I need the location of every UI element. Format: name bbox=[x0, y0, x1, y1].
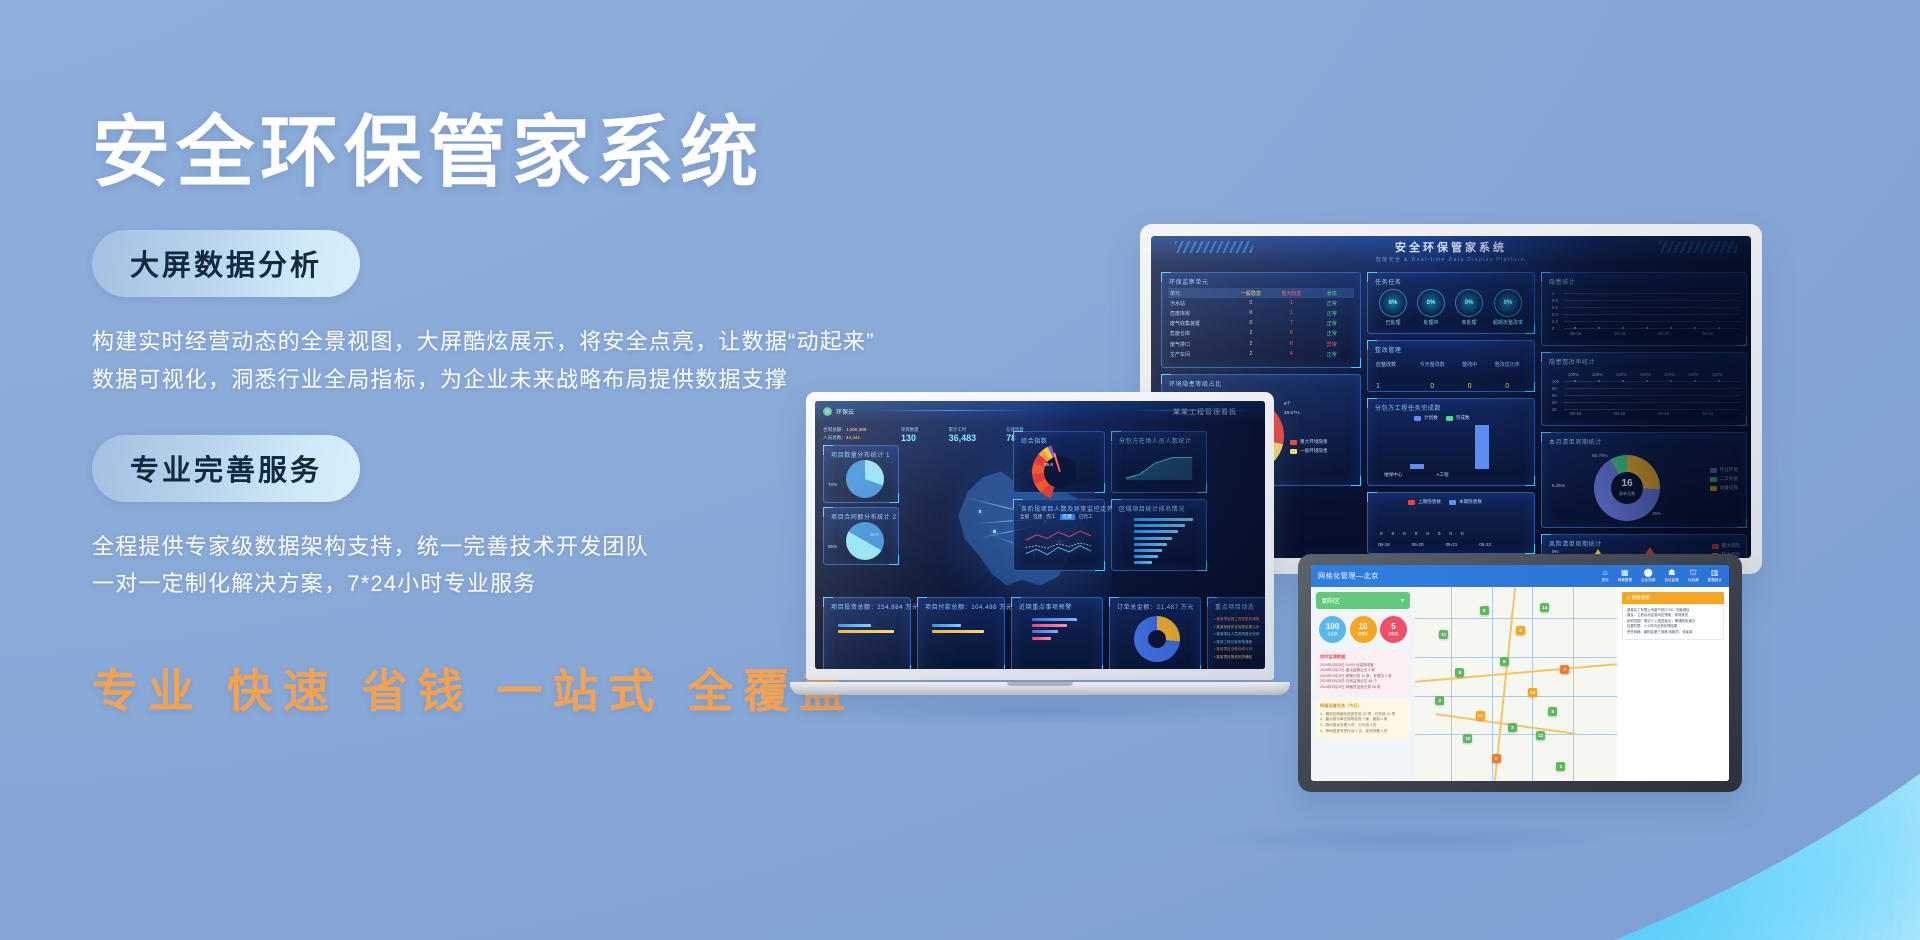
table-header-row: 单元 一般隐患 重大隐患 状态 bbox=[1168, 288, 1354, 298]
bar-value: 0 bbox=[1426, 531, 1429, 536]
laptop-deck bbox=[790, 682, 1290, 695]
legend-item: 重大风险 bbox=[1712, 543, 1740, 549]
trend-tab[interactable]: 已完工 bbox=[1079, 514, 1093, 520]
legend-label-major: 重大环境隐患 bbox=[1300, 439, 1328, 445]
cell-general: 2 bbox=[1231, 330, 1271, 337]
cell-general: 0 bbox=[1231, 300, 1271, 307]
legend-label: 二次系统 bbox=[1720, 476, 1738, 482]
kpi-label: 已处理 bbox=[1379, 319, 1407, 326]
rectify-val-3: 0 bbox=[1489, 383, 1527, 390]
map-marker[interactable]: 12 bbox=[1528, 688, 1537, 697]
legend-label: 上期隐患数 bbox=[1418, 499, 1441, 505]
unit-table: 单元 一般隐患 重大隐患 状态 污水站01正常 危废库房01正常 废气收集装置0… bbox=[1168, 288, 1354, 359]
order-pct-top: 68.75% bbox=[1592, 453, 1608, 461]
laptop-header-line-left bbox=[877, 410, 1027, 411]
cell-status: 正常 bbox=[1312, 300, 1352, 307]
cell-status: 正常 bbox=[1312, 320, 1352, 327]
panel-title-order-donut: 本月清单周期统计 bbox=[1549, 437, 1602, 446]
grid-icon: ▦ bbox=[1618, 569, 1632, 577]
laptop-trackpad-notch bbox=[1007, 682, 1073, 686]
pie-1-pct2: 70% bbox=[828, 482, 837, 490]
kpi-label: 未处理 bbox=[1455, 319, 1483, 326]
kpi-ring: 0% bbox=[1494, 289, 1522, 317]
panel-gauge: 综合指数 85.6 bbox=[1013, 431, 1105, 493]
ytick: 0.8 bbox=[1552, 298, 1558, 303]
panel-bottom-5: 重点项目动态 • 某某项目施工进度更新通报 • 某某标段安全检查结果公示 • 某… bbox=[1207, 597, 1265, 669]
cell-status: 正常 bbox=[1312, 330, 1352, 337]
region-select[interactable]: 朝阳区 ▾ bbox=[1316, 592, 1410, 609]
hazard-donut-legend: 重大环境隐患 一般环境隐患 bbox=[1290, 439, 1328, 457]
tablet-card-monitor: 实时监测数据 2024年5月23日 14:00 污染物浓度 2024年5月23日… bbox=[1316, 650, 1410, 694]
cell-major: 6 bbox=[1271, 330, 1311, 337]
page-title: 安全环保管家系统 bbox=[92, 112, 1032, 194]
banner-stage: 安全环保管家系统 大屏数据分析 构建实时经营动态的全景视图，大屏酷炫展示，将安全… bbox=[0, 0, 1920, 940]
tablet-nav[interactable]: ⌂首页 ▦网格管理 ⬤企业档案 ☗执法监管 ⛫污染源 ▥数据统计 bbox=[1602, 569, 1722, 583]
pie-1-pct: 20% bbox=[868, 462, 877, 470]
trend-tab-active[interactable]: 在建 bbox=[1060, 514, 1075, 520]
tablet-brand: 网格化管理—北京 bbox=[1318, 571, 1379, 581]
col-general: 一般隐患 bbox=[1231, 290, 1271, 297]
kpi-ring: 6% bbox=[1379, 289, 1407, 317]
rectify-val-0: 1 bbox=[1376, 383, 1414, 390]
panel-person-trend: 分包方在场人员人数统计 bbox=[1111, 431, 1207, 493]
panel-title-rank: 区域项目统计排名情况 bbox=[1119, 504, 1185, 513]
legend-label: 本期隐患数 bbox=[1459, 499, 1482, 505]
paragraph-data-analysis: 构建实时经营动态的全景视图，大屏酷炫展示，将安全点亮，让数据“动起来” 数据可视… bbox=[92, 323, 1032, 399]
point-label: 100% bbox=[1616, 372, 1627, 377]
ytick: 0 bbox=[1552, 326, 1554, 331]
bar-value: 0 bbox=[1392, 531, 1395, 536]
panel-bottom-4: 订单总金额：21,487 万元 bbox=[1109, 597, 1201, 669]
bottom-donut bbox=[1134, 616, 1180, 662]
legend-label: 重大风险 bbox=[1722, 543, 1740, 549]
ytick: 80 bbox=[1552, 386, 1557, 391]
xtick: 05-16 bbox=[1570, 411, 1581, 416]
cell-major: 1 bbox=[1271, 310, 1311, 317]
paragraph-1-line-1: 构建实时经营动态的全景视图，大屏酷炫展示，将安全点亮，让数据“动起来” bbox=[92, 323, 1032, 361]
ytick: 40 bbox=[1552, 400, 1557, 405]
tablet: 网格化管理—北京 ⌂首页 ▦网格管理 ⬤企业档案 ☗执法监管 ⛫污染源 ▥数据统… bbox=[1298, 554, 1742, 792]
donut-center: 16 清单总数 bbox=[1611, 472, 1643, 504]
bar-plan-2 bbox=[1475, 425, 1489, 469]
dashboard-title: 安全环保管家系统 bbox=[1395, 239, 1507, 255]
month-bar-legend: 上期隐患数 本期隐患数 bbox=[1408, 499, 1482, 508]
map-marker[interactable]: 8 bbox=[1492, 754, 1501, 763]
panel-unit-table: 环保监察单元 单元 一般隐患 重大隐患 状态 污水站01正常 危废库房01正常 bbox=[1161, 272, 1361, 368]
kpi-ring: 0% bbox=[1417, 289, 1445, 317]
cell-status: 异常 bbox=[1312, 341, 1352, 348]
device-group: 安全环保管家系统 智能安全 & Real-time Data Display P… bbox=[900, 150, 1920, 940]
rank-bars bbox=[1134, 518, 1200, 568]
tablet-warning-body: 某某化工有限公司废气排口 SO₂ 浓度超标 建议：立即启动应急响应预案，现场核查… bbox=[1622, 604, 1724, 640]
legend-swatch-major bbox=[1290, 440, 1297, 445]
table-row: 危废库房01正常 bbox=[1168, 308, 1354, 318]
cell-name: 危废仓库 bbox=[1170, 330, 1231, 337]
rectify-rate-axis: 100 80 60 40 20 100% 100% bbox=[1552, 371, 1740, 415]
bar-value: 0 bbox=[1403, 531, 1406, 536]
header-decor-right bbox=[1659, 241, 1737, 253]
legend-item: 作业环境 bbox=[1710, 467, 1738, 473]
xtick: 05-22 bbox=[1479, 542, 1491, 547]
month-bar-values: 0 0 0 0 0 0 0 0 bbox=[1380, 531, 1464, 539]
map-marker[interactable]: 5 bbox=[1548, 707, 1557, 716]
tablet-sidebar: 朝阳区 ▾ 100企业数 10预警数 5超标数 实时监测数据 2024年5月23… bbox=[1311, 587, 1415, 781]
monitor-shadow bbox=[1200, 822, 1620, 856]
xtick: 05-22 bbox=[1702, 411, 1713, 416]
tablet-frame: 网格化管理—北京 ⌂首页 ▦网格管理 ⬤企业档案 ☗执法监管 ⛫污染源 ▥数据统… bbox=[1298, 554, 1742, 792]
map-marker[interactable]: 10 bbox=[1463, 734, 1472, 743]
kpi-label: 超期未整改率 bbox=[1493, 319, 1523, 326]
laptop-dashboard: 环保云 某某工程管理看板 项目数量130 累计工时36,483 在建项目78 bbox=[815, 401, 1265, 669]
left-value-row: 合同总额：1,360,389 bbox=[823, 427, 899, 433]
laptop-shadow bbox=[820, 698, 1260, 724]
ytick: 1 bbox=[1552, 291, 1554, 296]
order-donut-legend: 作业环境 二次系统 设备设施 bbox=[1710, 467, 1738, 494]
cell-major: 4 bbox=[1271, 351, 1311, 358]
pie-chart-1 bbox=[846, 460, 884, 498]
header-decor-left bbox=[1175, 241, 1253, 253]
xtick: 05-20 bbox=[1658, 411, 1669, 416]
tablet-map[interactable]: 11 6 14 4 8 9 7 3 12 11 5 2 10 bbox=[1415, 587, 1617, 781]
ytick: 100 bbox=[1552, 379, 1559, 384]
bottom-5-list: • 某某项目施工进度更新通报 • 某某标段安全检查结果公示 • 某某项目人员进场… bbox=[1214, 616, 1265, 661]
rectify-val-1: 0 bbox=[1414, 383, 1452, 390]
nav-item-person[interactable]: ☗执法监管 bbox=[1664, 569, 1678, 583]
point-label: 100% bbox=[1592, 372, 1603, 377]
dashboard-subtitle: 智能安全 & Real-time Data Display Platform bbox=[1376, 256, 1526, 263]
donut-center bbox=[1148, 630, 1166, 648]
panel-bottom-1: 项目投资总额：254,884 万元 bbox=[823, 597, 911, 669]
rectify-col-1: 今天整改数 bbox=[1414, 361, 1452, 368]
person-area-chart bbox=[1122, 450, 1200, 482]
cell-general: 0 bbox=[1231, 320, 1271, 327]
gauge-chart bbox=[1032, 444, 1088, 500]
panel-title-bottom-4: 订单总金额：21,487 万元 bbox=[1117, 602, 1194, 611]
order-pct-left: 6.25% bbox=[1552, 483, 1565, 491]
cell-major: 6 bbox=[1271, 341, 1311, 348]
panel-bottom-2: 项目付款总额：104,488 万元 bbox=[917, 597, 1005, 669]
map-marker[interactable]: 8 bbox=[1455, 668, 1464, 677]
map-marker[interactable]: 11 bbox=[1476, 711, 1485, 720]
panel-title-trend: 各阶段项目人数及异常监控走势 bbox=[1021, 504, 1113, 513]
cell-name: 生产车间 bbox=[1170, 351, 1231, 358]
nav-item-alert[interactable]: ⬤企业档案 bbox=[1641, 569, 1655, 583]
xlabel: 维保中心 bbox=[1384, 472, 1402, 478]
panel-title-unit-table: 环保监察单元 bbox=[1169, 277, 1209, 286]
panel-pie-1: 项目数量分布统计 1 20% 70% bbox=[823, 445, 899, 503]
xtick: 05-21 bbox=[1446, 542, 1458, 547]
laptop: 环保云 某某工程管理看板 项目数量130 累计工时36,483 在建项目78 bbox=[790, 392, 1290, 695]
panel-title-task-status: 任务任务 bbox=[1375, 277, 1401, 286]
cell-status: 正常 bbox=[1312, 310, 1352, 317]
nav-item-chart[interactable]: ▥数据统计 bbox=[1708, 569, 1722, 583]
month-bar-xaxis: 05-18 05-20 05-21 05-22 bbox=[1378, 542, 1491, 550]
col-status: 状态 bbox=[1312, 290, 1352, 297]
task-kpi-row: 6%已处理 0%处理中 0%未处理 0%超期未整改率 bbox=[1374, 289, 1528, 326]
donut-value: 16 bbox=[1621, 479, 1632, 489]
legend-item: 一般环境隐患 bbox=[1290, 448, 1328, 454]
ytick: 0.4 bbox=[1552, 312, 1558, 317]
factory-icon: ⛫ bbox=[1688, 569, 1699, 577]
tablet-right-panel: ⚠ 预警提醒 某某化工有限公司废气排口 SO₂ 浓度超标 建议：立即启动应急响应… bbox=[1617, 587, 1729, 781]
map-marker[interactable]: 13 bbox=[1536, 731, 1545, 740]
bar-value: 0 bbox=[1380, 531, 1383, 536]
cell-major: 1 bbox=[1271, 300, 1311, 307]
laptop-header-line-right bbox=[1129, 410, 1249, 411]
laptop-kpi: 项目数量130 bbox=[901, 427, 919, 443]
gauge-value: 85.6 bbox=[1044, 462, 1053, 470]
trend-tab[interactable]: 全部 bbox=[1020, 514, 1029, 520]
legend-label: 作业环境 bbox=[1720, 467, 1738, 473]
xtick: 05-18 bbox=[1614, 411, 1625, 416]
rectify-header-row: 应整改数 今天整改数 整改中 整改成功率 bbox=[1374, 359, 1528, 369]
legend-item: 二次系统 bbox=[1710, 476, 1738, 482]
xtick: 05-18 bbox=[1378, 542, 1390, 547]
pie-2-pct: 35% bbox=[870, 532, 879, 540]
cell-major: 7 bbox=[1271, 320, 1311, 327]
trend-line-chart bbox=[1022, 524, 1100, 560]
map-marker[interactable]: 3 bbox=[1435, 696, 1444, 705]
panel-order-donut: 本月清单周期统计 16 清单总数 作业环境 二次系统 设备设施 bbox=[1541, 432, 1747, 528]
legend-item: 本期隐患数 bbox=[1449, 499, 1482, 505]
panel-rank: 区域项目统计排名情况 bbox=[1111, 499, 1207, 571]
panel-title-bottom-1: 项目投资总额：254,884 万元 bbox=[831, 602, 919, 611]
xtick: 05-20 bbox=[1658, 331, 1669, 336]
table-row: 污水站01正常 bbox=[1168, 298, 1354, 308]
left-value-row: 人员总数：44,441 bbox=[823, 435, 899, 441]
kpi-item: 6%已处理 bbox=[1379, 289, 1407, 326]
panel-title-rectify-rate: 隐患整改率统计 bbox=[1549, 357, 1595, 366]
cell-status: 正常 bbox=[1312, 351, 1352, 358]
tablet-stats: 100企业数 10预警数 5超标数 bbox=[1319, 616, 1407, 643]
panel-title-hidden-stat: 隐患统计 bbox=[1549, 277, 1575, 286]
laptop-title: 某某工程管理看板 bbox=[1173, 407, 1237, 417]
bar-value: 0 bbox=[1438, 531, 1441, 536]
pie-chart-2 bbox=[846, 522, 884, 560]
tablet-card-tasks: 网格巡查任务（今日） 1、朝阳区网格化巡查任务 22 项，已完成 14 项 2、… bbox=[1316, 699, 1410, 738]
rectify-col-3: 整改成功率 bbox=[1489, 361, 1527, 368]
legend-label-general: 一般环境隐患 bbox=[1300, 448, 1328, 454]
panel-month-bar: 上期隐患数 本期隐患数 0 0 0 0 0 0 0 bbox=[1367, 492, 1535, 554]
panel-title-bottom-3: 近期重点事项预警 bbox=[1019, 602, 1072, 611]
xtick: 05-20 bbox=[1412, 542, 1424, 547]
legend-swatch-general bbox=[1290, 449, 1297, 454]
tablet-screen: 网格化管理—北京 ⌂首页 ▦网格管理 ⬤企业档案 ☗执法监管 ⛫污染源 ▥数据统… bbox=[1311, 565, 1729, 781]
badge-professional-service: 专业完善服务 bbox=[92, 435, 360, 502]
bottom-1-bars bbox=[838, 624, 902, 636]
col-unit: 单元 bbox=[1170, 290, 1231, 297]
laptop-kpi-row: 项目数量130 累计工时36,483 在建项目78 bbox=[901, 427, 1024, 443]
laptop-lid: 环保云 某某工程管理看板 项目数量130 累计工时36,483 在建项目78 bbox=[806, 392, 1274, 680]
table-row: 废气收集装置07正常 bbox=[1168, 319, 1354, 329]
bottom-3-bars bbox=[1032, 618, 1096, 643]
col-major: 重大隐患 bbox=[1271, 290, 1311, 297]
rectify-table: 应整改数 今天整改数 整改中 整改成功率 1 0 0 0 bbox=[1374, 359, 1528, 391]
laptop-screen: 环保云 某某工程管理看板 项目数量130 累计工时36,483 在建项目78 bbox=[815, 401, 1265, 669]
hidden-stat-axis: 1 0.8 0.6 0.4 0.2 0 05-16 bbox=[1552, 291, 1740, 335]
donut-label: 清单总数 bbox=[1619, 491, 1636, 497]
bar-value: 0 bbox=[1415, 531, 1418, 536]
kpi-item: 0%超期未整改率 bbox=[1493, 289, 1523, 326]
table-row: 生产车间24正常 bbox=[1168, 349, 1354, 359]
point-label: 100% bbox=[1712, 372, 1723, 377]
panel-title-bottom-5: 重点项目动态 bbox=[1215, 602, 1255, 611]
trend-tabs[interactable]: 全部 在建 完工 在建 已完工 bbox=[1020, 514, 1093, 523]
cell-general: 2 bbox=[1231, 351, 1271, 358]
laptop-brand-label: 环保云 bbox=[836, 407, 854, 416]
trend-tab[interactable]: 完工 bbox=[1046, 514, 1055, 520]
xtick: 05-16 bbox=[1570, 331, 1581, 336]
kpi-label: 处理中 bbox=[1417, 319, 1445, 326]
map-marker[interactable]: 7 bbox=[1560, 665, 1569, 674]
panel-rectify: 整改管理 应整改数 今天整改数 整改中 整改成功率 1 bbox=[1367, 340, 1535, 392]
stat-circle: 5超标数 bbox=[1380, 616, 1407, 643]
map-marker[interactable]: 6 bbox=[1480, 606, 1489, 615]
kpi-ring: 0% bbox=[1455, 289, 1483, 317]
map-marker[interactable]: 11 bbox=[1439, 630, 1448, 639]
ytick: 0.6 bbox=[1552, 305, 1558, 310]
nav-item-home[interactable]: ⌂首页 bbox=[1602, 569, 1609, 583]
bottom-2-bars bbox=[932, 624, 996, 636]
bar-plan-1 bbox=[1410, 464, 1424, 469]
chevron-down-icon: ▾ bbox=[1401, 597, 1404, 604]
panel-title-bottom-2: 项目付款总额：104,488 万元 bbox=[925, 602, 1013, 611]
stat-circle: 100企业数 bbox=[1319, 616, 1346, 643]
map-marker[interactable]: 1 bbox=[1556, 762, 1565, 771]
bar-value: 0 bbox=[1449, 531, 1452, 536]
map-marker[interactable]: 4 bbox=[1516, 626, 1525, 635]
laptop-brand: 环保云 bbox=[823, 407, 854, 416]
point-label: 100% bbox=[1688, 372, 1699, 377]
panel-hidden-stat: 隐患统计 1 0.8 0.6 0.4 0.2 0 bbox=[1541, 272, 1747, 346]
project-bar-xaxis: 维保中心 A工程 bbox=[1384, 472, 1449, 481]
panel-project-bar: 分包方工程任务完成数 计划数 完成数 维保中心 A工程 bbox=[1367, 398, 1535, 486]
panel-task-status: 任务任务 6%已处理 0%处理中 0%未处理 0%超期未整改率 bbox=[1367, 272, 1535, 334]
person-icon: ☗ bbox=[1664, 569, 1678, 577]
point-label: 100% bbox=[1568, 372, 1579, 377]
cell-name: 废气排口 bbox=[1170, 341, 1231, 348]
cell-general: 0 bbox=[1231, 310, 1271, 317]
leaf-icon bbox=[823, 407, 832, 416]
map-marker[interactable]: 2 bbox=[1508, 723, 1517, 732]
badge-data-analysis: 大屏数据分析 bbox=[92, 230, 360, 297]
kpi-item: 0%处理中 bbox=[1417, 289, 1445, 326]
xtick: 05-18 bbox=[1614, 331, 1625, 336]
panel-title-project-bar: 分包方工程任务完成数 bbox=[1375, 403, 1441, 412]
panel-bottom-3: 近期重点事项预警 bbox=[1011, 597, 1103, 669]
table-row: 危废仓库26正常 bbox=[1168, 329, 1354, 339]
point-label: 100% bbox=[1640, 372, 1651, 377]
cell-general: 2 bbox=[1231, 341, 1271, 348]
cell-name: 污水站 bbox=[1170, 300, 1231, 307]
laptop-kpi: 累计工时36,483 bbox=[949, 427, 977, 443]
alert-icon: ⬤ bbox=[1641, 569, 1655, 577]
bar-value: 0 bbox=[1461, 531, 1464, 536]
home-icon: ⌂ bbox=[1602, 569, 1609, 577]
panel-title-rectify: 整改管理 bbox=[1375, 345, 1401, 354]
legend-item: 重大环境隐患 bbox=[1290, 439, 1328, 445]
rectify-val-2: 0 bbox=[1451, 383, 1489, 390]
order-donut-chart: 16 清单总数 bbox=[1594, 455, 1660, 521]
table-row: 废气排口26异常 bbox=[1168, 339, 1354, 349]
nav-item-factory[interactable]: ⛫污染源 bbox=[1688, 569, 1699, 583]
rectify-value-row: 1 0 0 0 bbox=[1374, 381, 1528, 391]
project-bar-chart bbox=[1384, 421, 1514, 469]
ytick: 0.2 bbox=[1552, 319, 1558, 324]
nav-item-grid[interactable]: ▦网格管理 bbox=[1618, 569, 1632, 583]
map-marker[interactable]: 14 bbox=[1540, 603, 1549, 612]
tablet-warning-header: ⚠ 预警提醒 bbox=[1622, 592, 1724, 604]
chart-icon: ▥ bbox=[1708, 569, 1722, 577]
tablet-body: 朝阳区 ▾ 100企业数 10预警数 5超标数 实时监测数据 2024年5月23… bbox=[1311, 587, 1729, 781]
panel-trend: 各阶段项目人数及异常监控走势 全部 在建 完工 在建 已完工 bbox=[1013, 499, 1105, 571]
trend-tab[interactable]: 在建 bbox=[1033, 514, 1042, 520]
point-label: 100% bbox=[1664, 372, 1675, 377]
panel-title-risk-level: 风险清单周期统计 bbox=[1549, 539, 1602, 548]
cell-name: 危废库房 bbox=[1170, 310, 1231, 317]
panel-title-pie-1: 项目数量分布统计 1 bbox=[831, 450, 890, 459]
pie-2-pct2: 55% bbox=[828, 544, 837, 552]
xtick: 05-22 bbox=[1702, 331, 1713, 336]
kpi-item: 0%未处理 bbox=[1455, 289, 1483, 326]
tablet-topbar: 网格化管理—北京 ⌂首页 ▦网格管理 ⬤企业档案 ☗执法监管 ⛫污染源 ▥数据统… bbox=[1311, 565, 1729, 587]
laptop-left-values: 合同总额：1,360,389 人员总数：44,441 bbox=[823, 427, 899, 441]
panel-title-gauge: 综合指数 bbox=[1021, 436, 1047, 445]
ytick: 20 bbox=[1552, 407, 1557, 412]
panel-rectify-rate: 隐患整改率统计 100 80 60 40 20 bbox=[1541, 352, 1747, 426]
legend-item: 上期隐患数 bbox=[1408, 499, 1441, 505]
panel-pie-2: 项目合同额分布统计 2 35% 55% bbox=[823, 507, 899, 565]
panel-title-pie-2: 项目合同额分布统计 2 bbox=[831, 512, 897, 521]
xlabel: A工程 bbox=[1436, 472, 1448, 478]
order-pct-right: 25% bbox=[1652, 511, 1661, 519]
rectify-col-2: 整改中 bbox=[1451, 361, 1489, 368]
stat-circle: 10预警数 bbox=[1350, 616, 1377, 643]
cell-name: 废气收集装置 bbox=[1170, 320, 1231, 327]
legend-label: 设备设施 bbox=[1720, 485, 1738, 491]
map-marker[interactable]: 9 bbox=[1500, 657, 1509, 666]
region-select-value: 朝阳区 bbox=[1322, 596, 1340, 605]
ytick: 60 bbox=[1552, 393, 1557, 398]
legend-item: 设备设施 bbox=[1710, 485, 1738, 491]
rectify-col-0: 应整改数 bbox=[1376, 361, 1414, 368]
panel-title-hazard-donut: 环境隐患等级占比 bbox=[1169, 379, 1222, 388]
